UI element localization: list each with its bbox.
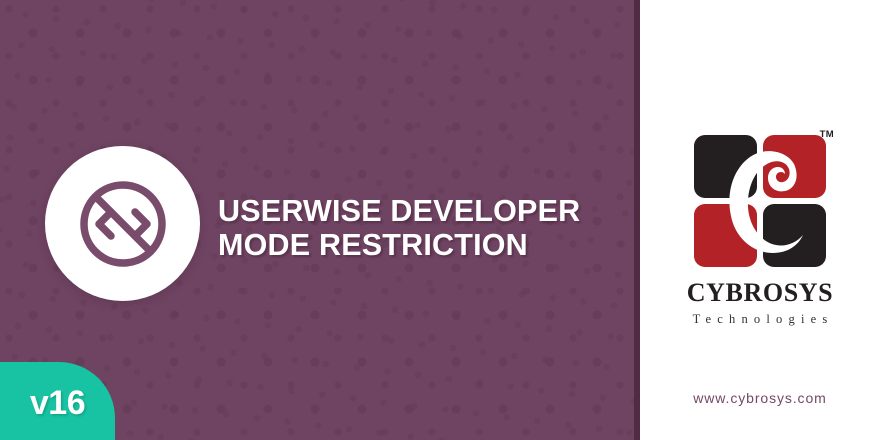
title-line-1: USERWISE DEVELOPER (218, 194, 618, 228)
cybrosys-logo-mark (690, 131, 830, 271)
promo-banner: USERWISE DEVELOPER MODE RESTRICTION v16 (0, 0, 880, 440)
title-line-2: MODE RESTRICTION (218, 228, 618, 262)
brand-tagline: Technologies (640, 312, 880, 327)
trademark-symbol: TM (820, 129, 834, 140)
brand-name: CYBROSYS (640, 278, 880, 308)
brand-block: TM CYBROSYS Technologies (640, 131, 880, 327)
right-white-panel: TM CYBROSYS Technologies www.cybrosys.co… (640, 0, 880, 440)
website-url: www.cybrosys.com (640, 390, 880, 406)
cybrosys-logo: TM (690, 131, 830, 271)
version-badge-label: v16 (30, 384, 85, 423)
banner-title: USERWISE DEVELOPER MODE RESTRICTION (218, 194, 618, 262)
left-purple-panel: USERWISE DEVELOPER MODE RESTRICTION v16 (0, 0, 636, 440)
no-developer-mode-icon-circle (45, 146, 200, 301)
no-developer-mode-icon (75, 176, 171, 272)
